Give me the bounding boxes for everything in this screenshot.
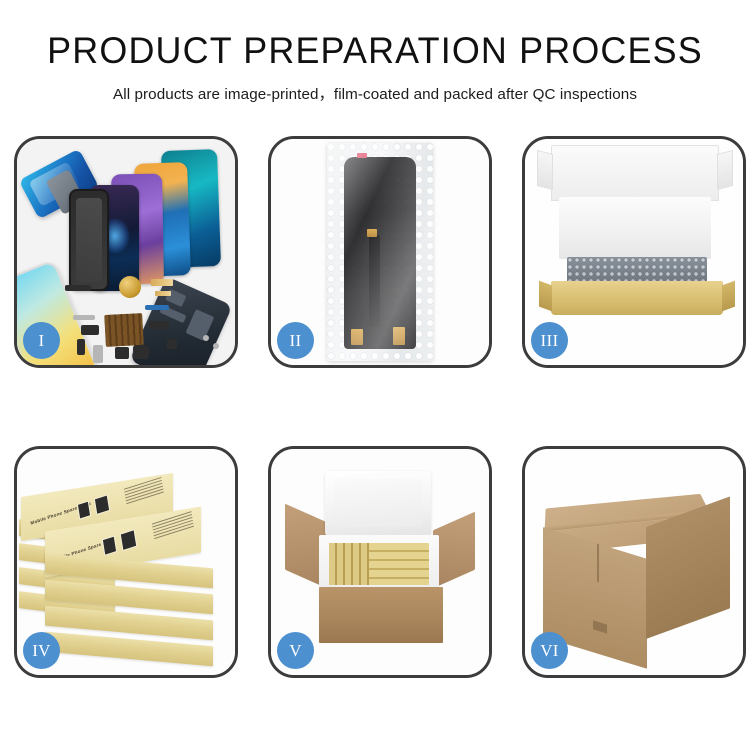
part-chip-icon (149, 321, 169, 329)
carton-flap-right-icon (433, 512, 475, 589)
part-button-icon (167, 339, 177, 349)
step-badge-4: IV (23, 632, 60, 669)
step-panel-4[interactable]: Mobile Phone Spare Parts Mobile Phone Sp… (14, 446, 238, 678)
styrofoam-lid-icon (325, 471, 431, 537)
pink-label-sticker-icon (357, 153, 367, 158)
carton-seam-2 (593, 620, 607, 633)
page-header: PRODUCT PREPARATION PROCESS All products… (0, 0, 750, 104)
product-preparation-process-page: PRODUCT PREPARATION PROCESS All products… (0, 0, 750, 750)
phone-screen-1-icon (69, 189, 109, 291)
screw-icon (203, 335, 209, 341)
page-title: PRODUCT PREPARATION PROCESS (11, 30, 739, 71)
step-panel-6[interactable]: VI (522, 446, 746, 678)
step-badge-5: V (277, 632, 314, 669)
step-badge-6: VI (531, 632, 568, 669)
box-thumb-4 (120, 529, 138, 551)
kraft-tray-body-icon (551, 281, 723, 315)
kraft-boxes-side-stack-icon (329, 543, 369, 585)
gold-connector-3-icon (393, 327, 405, 345)
process-steps-grid: I II (14, 136, 746, 678)
part-block-icon (81, 325, 99, 335)
part-tray-icon (93, 345, 103, 363)
box-spec-lines-1 (124, 477, 164, 506)
part-blue-flex-icon (145, 305, 169, 310)
flex-cable-icon (151, 279, 173, 286)
screw-2-icon (213, 343, 219, 349)
step-badge-3: III (531, 322, 568, 359)
page-subtitle: All products are image-printed，film-coat… (0, 82, 750, 104)
part-camera-icon (115, 347, 129, 359)
speaker-coil-icon (119, 276, 141, 298)
box-lid-icon (551, 145, 719, 201)
gold-connector-icon (367, 229, 377, 237)
box-thumb-3 (102, 535, 117, 555)
step-panel-3[interactable]: III (522, 136, 746, 368)
box-thumb-2 (94, 494, 110, 515)
white-foam-sheet-icon (559, 197, 711, 259)
part-strip-icon (65, 285, 91, 291)
step-panel-1[interactable]: I (14, 136, 238, 368)
flex-cable-small-icon (155, 291, 171, 296)
gold-connector-2-icon (351, 329, 363, 345)
step-panel-5[interactable]: V (268, 446, 492, 678)
connector-grid-icon (104, 313, 144, 347)
step-badge-2: II (277, 322, 314, 359)
step-badge-1: I (23, 322, 60, 359)
box-thumb-1 (77, 500, 91, 519)
carton-body-icon (319, 587, 443, 643)
step-panel-2[interactable]: II (268, 136, 492, 368)
part-motor-icon (133, 345, 149, 359)
bubble-wrap-bag-icon (327, 143, 433, 361)
screen-flex-cable-icon (369, 235, 380, 327)
box-spec-lines-2 (152, 511, 194, 541)
wrapped-screen-icon (344, 157, 416, 349)
part-light-strip-icon (73, 315, 95, 320)
part-pin-icon (77, 339, 85, 355)
carton-seam-1 (597, 544, 599, 583)
